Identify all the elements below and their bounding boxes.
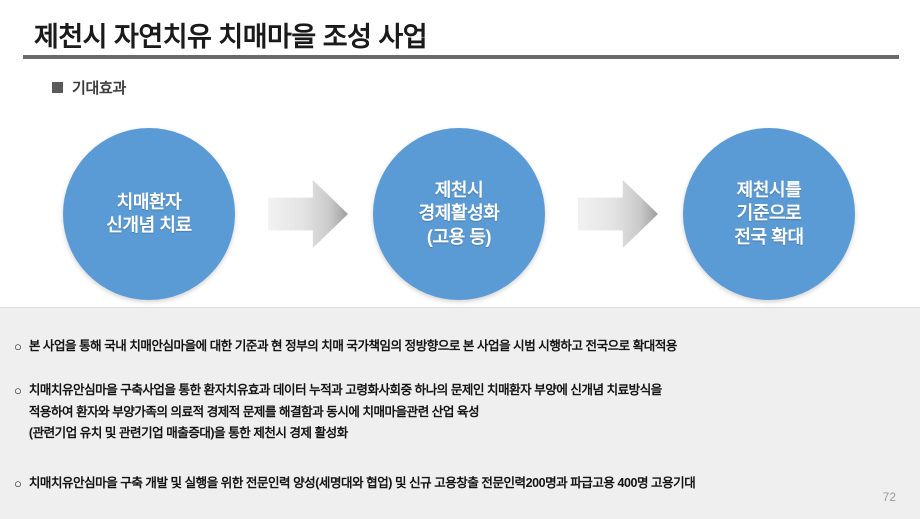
flow-node-3-label: 제천시를 기준으로 전국 확대 (734, 179, 803, 248)
section-heading-label: 기대효과 (72, 77, 126, 98)
flow-diagram: 치매환자 신개념 치료 제천시 경제활성화 (고용 등) 제천시를 기준으로 전… (0, 128, 920, 303)
presentation-slide: 제천시 자연치유 치매마을 조성 사업 기대효과 치매환자 신개념 치료 제천시… (0, 0, 920, 518)
square-bullet-icon (52, 82, 63, 93)
flow-node-1-label: 치매환자 신개념 치료 (106, 191, 191, 237)
page-title: 제천시 자연치유 치매마을 조성 사업 (34, 15, 427, 54)
title-divider (23, 55, 899, 59)
note-text: 본 사업을 통해 국내 치매안심마을에 대한 기준과 현 정부의 치매 국가책임… (29, 336, 677, 358)
circle-bullet-icon: ○ (14, 336, 22, 357)
note-item: ○ 치매치유안심마을 구축 개발 및 실행을 위한 전문인력 양성(세명대와 협… (14, 473, 904, 495)
section-heading: 기대효과 (52, 77, 126, 98)
flow-node-1: 치매환자 신개념 치료 (63, 128, 235, 300)
title-block: 제천시 자연치유 치매마을 조성 사업 (0, 0, 920, 62)
note-item: ○ 치매치유안심마을 구축사업을 통한 환자치유효과 데이터 누적과 고령화사회… (14, 380, 904, 445)
notes-panel: ○ 본 사업을 통해 국내 치매안심마을에 대한 기준과 현 정부의 치매 국가… (0, 307, 920, 519)
circle-bullet-icon: ○ (14, 473, 22, 494)
flow-node-3: 제천시를 기준으로 전국 확대 (683, 128, 855, 300)
note-text: 치매치유안심마을 구축 개발 및 실행을 위한 전문인력 양성(세명대와 협업)… (29, 473, 695, 495)
circle-bullet-icon: ○ (14, 380, 22, 401)
page-number: 72 (883, 490, 896, 504)
arrow-right-icon (578, 180, 658, 248)
flow-node-2: 제천시 경제활성화 (고용 등) (373, 128, 545, 300)
arrow-right-icon (268, 180, 348, 248)
flow-node-2-label: 제천시 경제활성화 (고용 등) (419, 179, 500, 248)
note-item: ○ 본 사업을 통해 국내 치매안심마을에 대한 기준과 현 정부의 치매 국가… (14, 336, 904, 358)
note-text: 치매치유안심마을 구축사업을 통한 환자치유효과 데이터 누적과 고령화사회중 … (29, 380, 662, 445)
